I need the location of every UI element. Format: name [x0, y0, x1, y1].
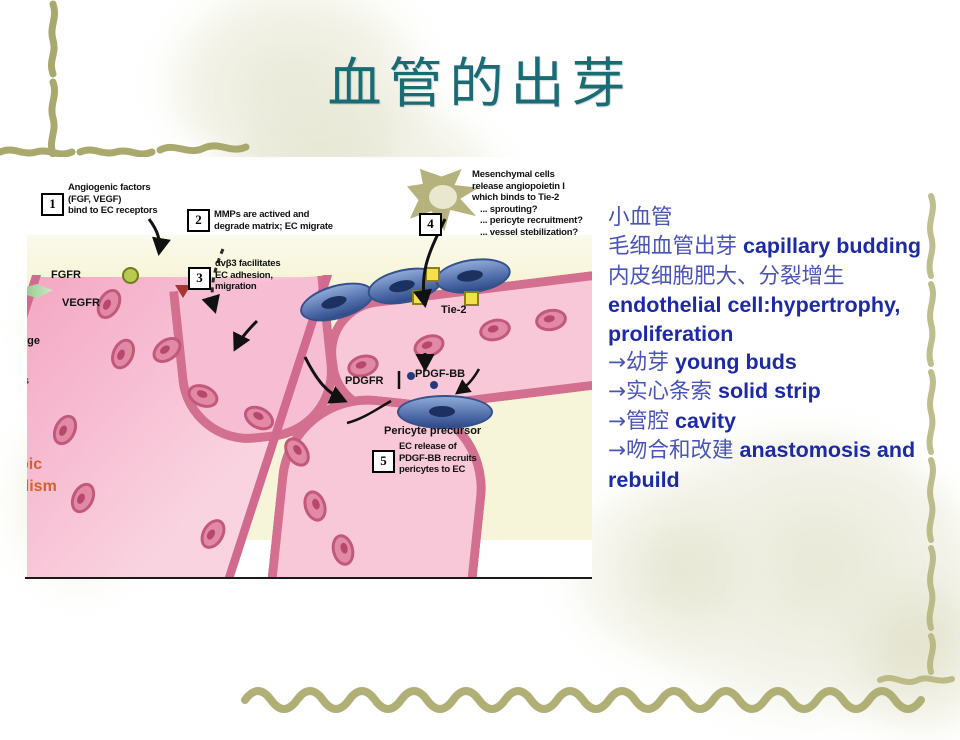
step-1-text: Angiogenic factors (FGF, VEGF) bind to E…	[68, 182, 157, 217]
label-vegfr: VEGFR	[62, 297, 100, 309]
body-line-4: →幼芽 young buds	[608, 348, 938, 377]
step-number-1: 1	[41, 193, 64, 216]
body-line-2-en: capillary budding	[737, 234, 921, 258]
body-line-3-en: endothelial cell:hypertrophy, proliferat…	[608, 293, 900, 345]
clipped-label-macrophage: age	[27, 335, 40, 347]
step-number-3: 3	[188, 267, 211, 290]
step-3-text: αvβ3 facilitates EC adhesion, migration	[215, 258, 280, 293]
body-line-6: →管腔 cavity	[608, 407, 938, 436]
body-line-5: →实心条索 solid strip	[608, 377, 938, 406]
step-4-text: Mesenchymal cells release angiopoietin I…	[472, 169, 583, 238]
step-number-5: 5	[372, 450, 395, 473]
body-line-3: 内皮细胞肥大、分裂增生 endothelial cell:hypertrophy…	[608, 262, 938, 348]
slide-title: 血管的出芽	[0, 53, 960, 115]
step-number-2: 2	[187, 209, 210, 232]
body-line-6-cn: →管腔	[608, 409, 669, 434]
body-line-4-en: young buds	[669, 350, 797, 374]
clipped-label-metabolism: olism	[27, 477, 57, 496]
clipped-label-fragment: s	[27, 375, 29, 388]
label-pdgf-bb: PDGF-BB	[415, 368, 465, 380]
body-line-2: 毛细血管出芽 capillary budding	[608, 232, 938, 261]
body-line-3-cn: 内皮细胞肥大、分裂增生	[608, 264, 845, 289]
label-pericyte-precursor: Pericyte precursor	[384, 425, 481, 437]
body-text-block: 小血管 毛细血管出芽 capillary budding 内皮细胞肥大、分裂增生…	[608, 203, 938, 494]
figure-underline	[25, 577, 592, 579]
step-number-4: 4	[419, 213, 442, 236]
body-line-7-cn: →吻合和改建	[608, 438, 734, 463]
body-line-2-cn: 毛细血管出芽	[608, 234, 737, 259]
label-tie2: Tie-2	[441, 304, 466, 316]
background-leaf-watermark	[830, 560, 960, 740]
body-line-5-cn: →实心条索	[608, 379, 712, 404]
background-leaf-watermark	[560, 470, 790, 670]
body-line-5-en: solid strip	[712, 379, 821, 403]
label-fgfr: FGFR	[51, 269, 81, 281]
body-line-1: 小血管	[608, 203, 938, 232]
body-line-4-cn: →幼芽	[608, 350, 669, 375]
clipped-label-anaerobic: bic	[27, 455, 42, 474]
label-pdgfr: PDGFR	[345, 375, 384, 387]
step-5-text: EC release of PDGF-BB recruits pericytes…	[399, 441, 477, 476]
angiogenesis-diagram: 1 Angiogenic factors (FGF, VEGF) bind to…	[27, 157, 592, 577]
body-line-1-cn: 小血管	[608, 205, 673, 230]
body-line-7: →吻合和改建 anastomosis and rebuild	[608, 436, 938, 494]
step-2-text: MMPs are actived and degrade matrix; EC …	[214, 209, 333, 232]
body-line-6-en: cavity	[669, 409, 736, 433]
